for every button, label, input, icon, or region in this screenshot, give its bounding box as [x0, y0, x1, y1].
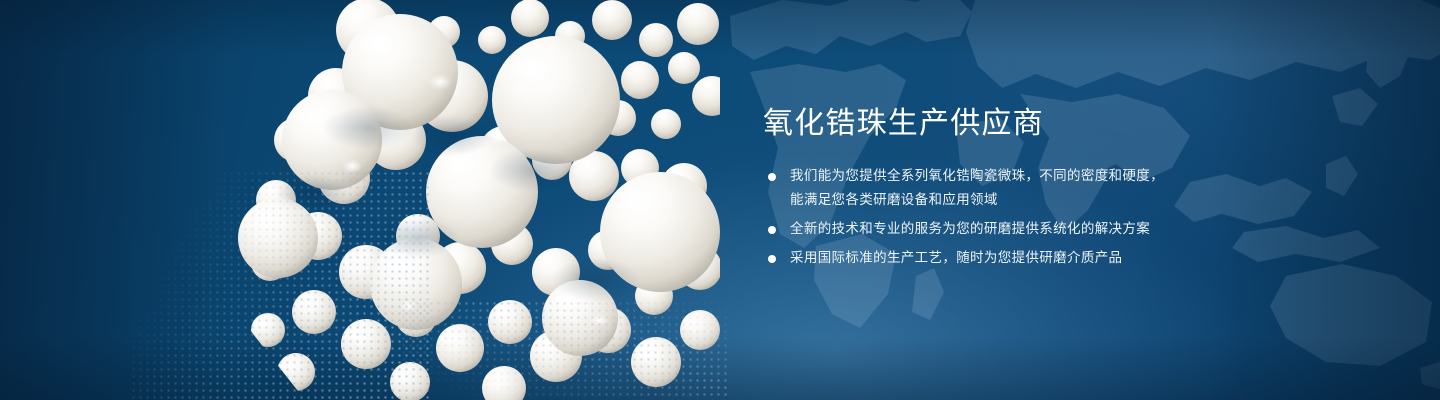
- page-title: 氧化锆珠生产供应商: [763, 106, 1233, 142]
- hero-banner: 氧化锆珠生产供应商 我们能为您提供全系列氧化锆陶瓷微珠，不同的密度和硬度， 能满…: [0, 0, 1440, 400]
- list-item-line: 能满足您各类研磨设备和应用领域: [790, 188, 1233, 212]
- list-item: 我们能为您提供全系列氧化锆陶瓷微珠，不同的密度和硬度， 能满足您各类研磨设备和应…: [763, 164, 1233, 212]
- banner-copy: 氧化锆珠生产供应商 我们能为您提供全系列氧化锆陶瓷微珠，不同的密度和硬度， 能满…: [763, 106, 1233, 275]
- list-item: 全新的技术和专业的服务为您的研磨提供系统化的解决方案: [763, 217, 1233, 241]
- feature-list: 我们能为您提供全系列氧化锆陶瓷微珠，不同的密度和硬度， 能满足您各类研磨设备和应…: [763, 164, 1233, 270]
- list-item-line: 我们能为您提供全系列氧化锆陶瓷微珠，不同的密度和硬度，: [790, 164, 1233, 188]
- zirconia-beads-photo: [100, 0, 720, 400]
- beads-illustration: [100, 0, 720, 400]
- list-item-line: 采用国际标准的生产工艺，随时为您提供研磨介质产品: [790, 246, 1233, 270]
- list-item-line: 全新的技术和专业的服务为您的研磨提供系统化的解决方案: [790, 217, 1233, 241]
- bullet-dot-icon: [768, 226, 776, 234]
- list-item: 采用国际标准的生产工艺，随时为您提供研磨介质产品: [763, 246, 1233, 270]
- bullet-dot-icon: [768, 255, 776, 263]
- bullet-dot-icon: [768, 173, 776, 181]
